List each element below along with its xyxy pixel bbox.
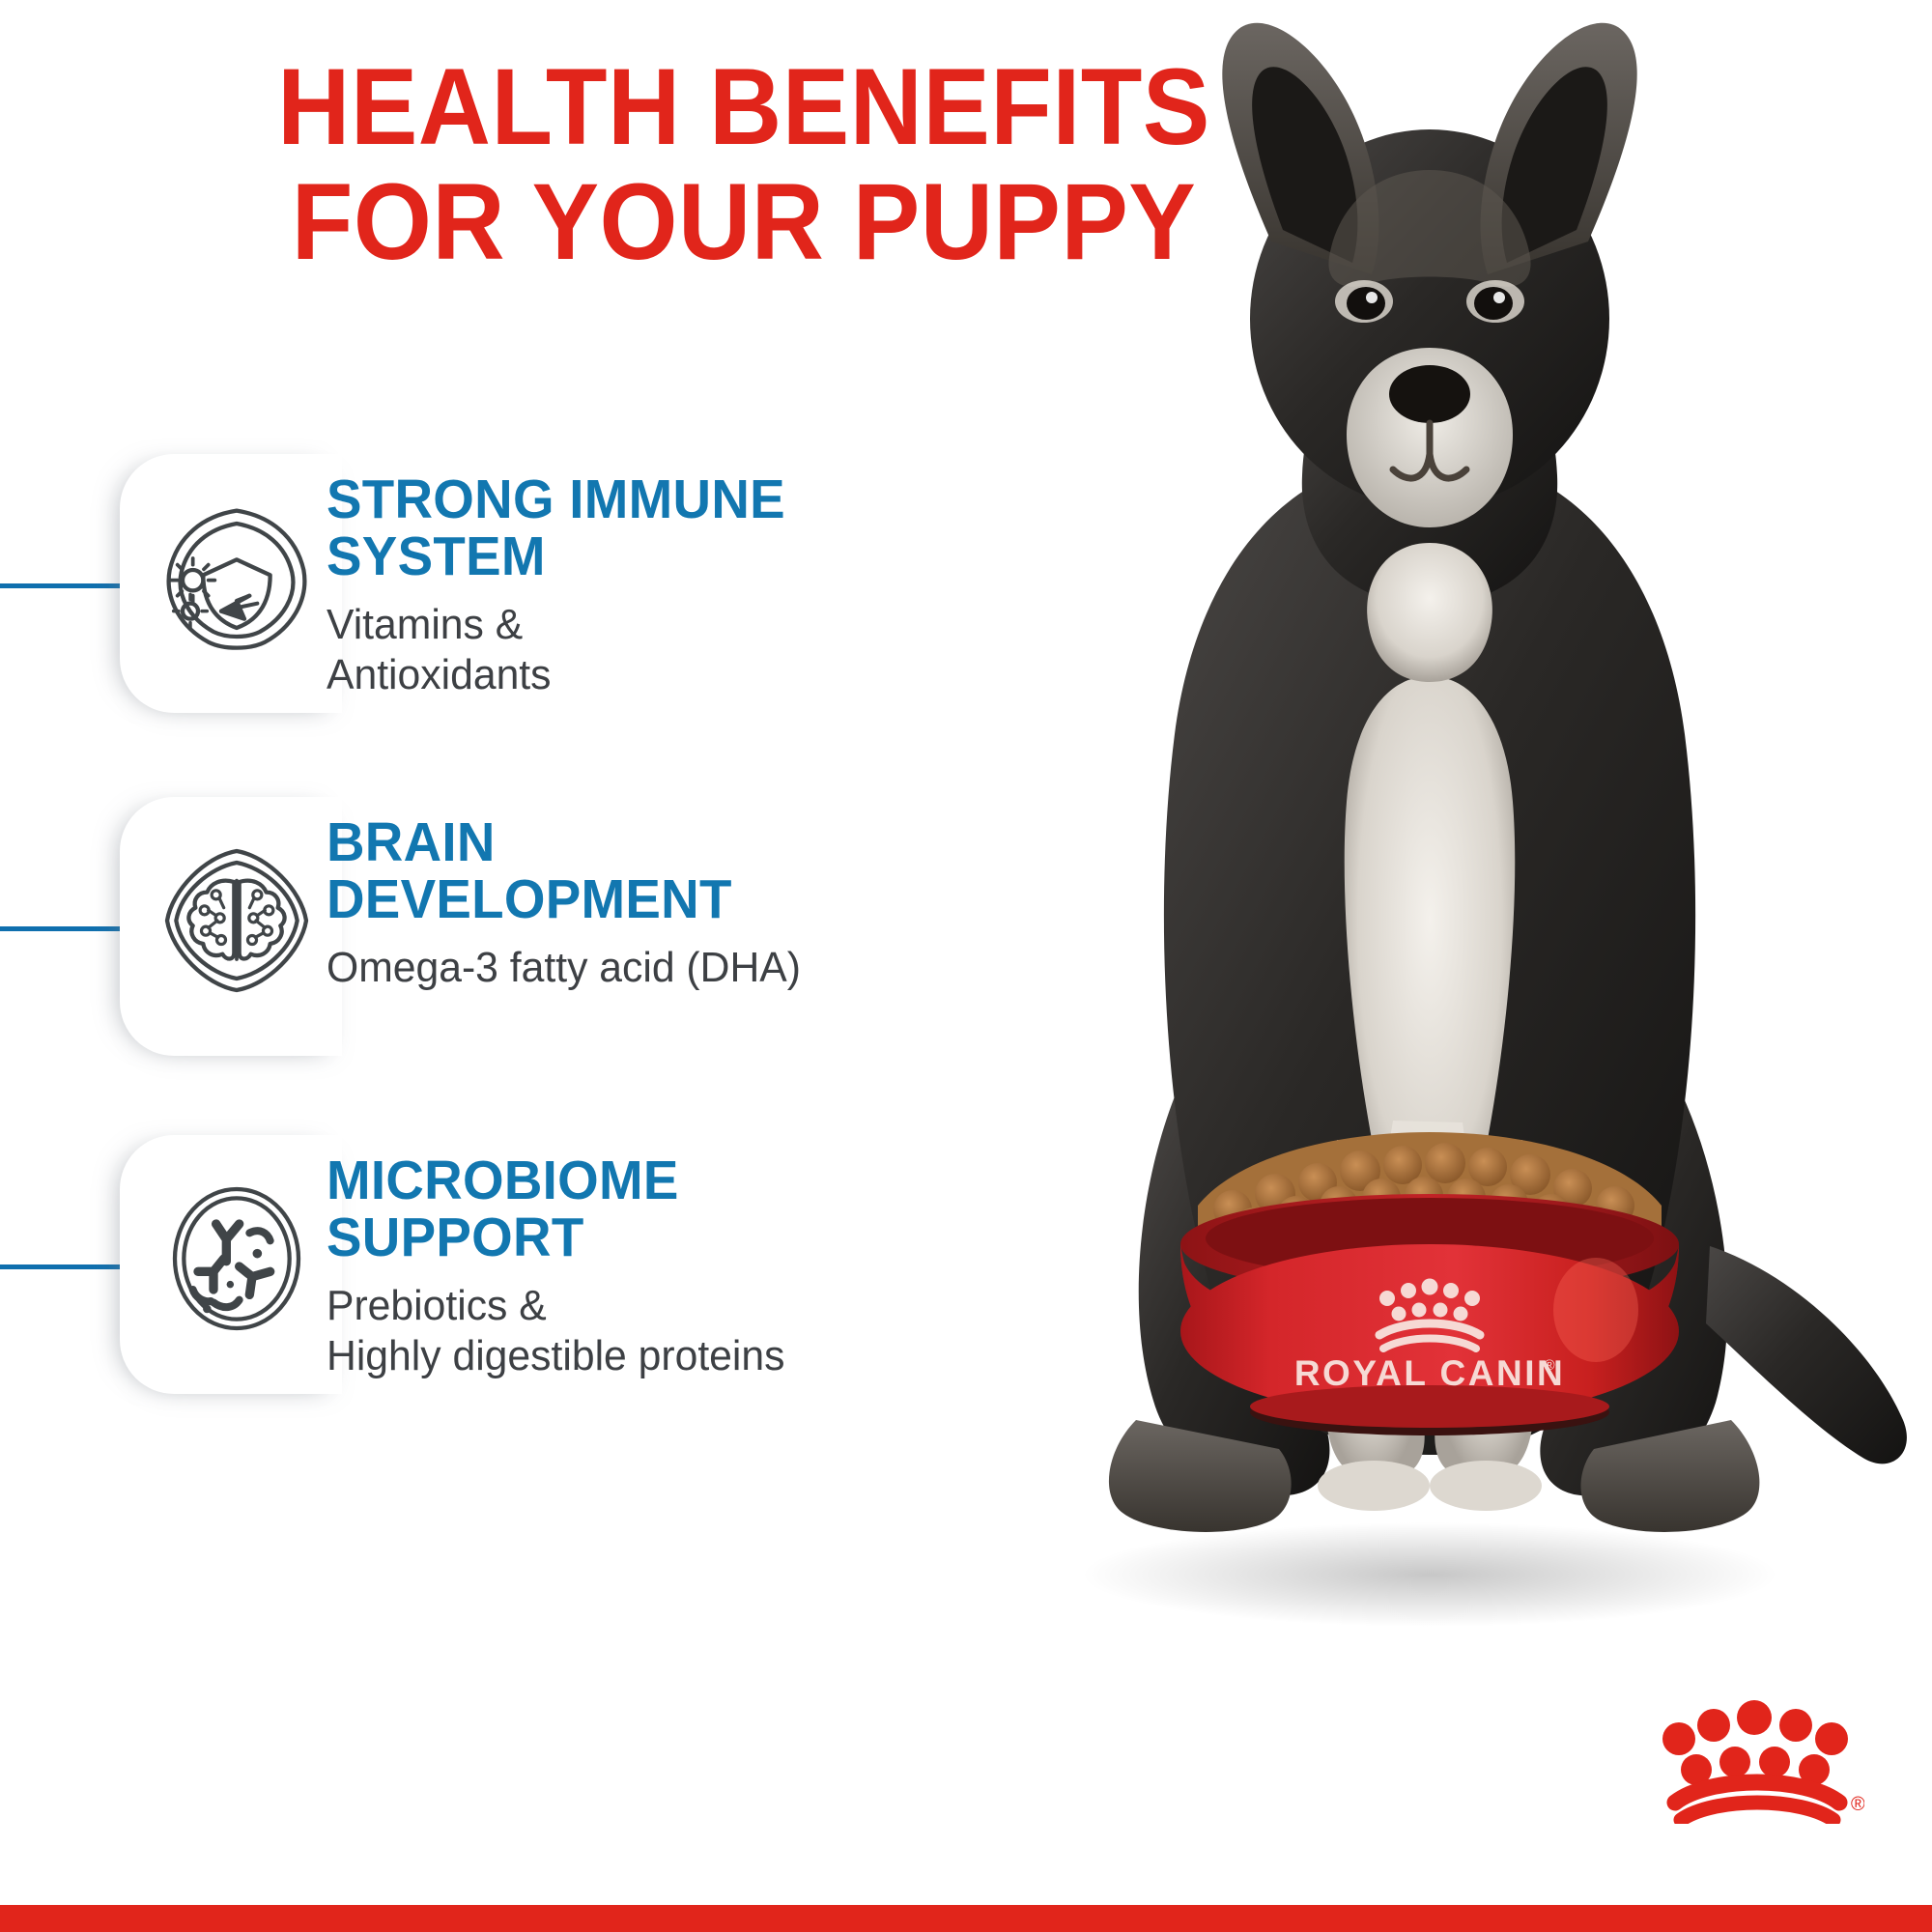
microbiome-bacteria-icon	[159, 1181, 314, 1336]
connector-line-brain	[0, 926, 124, 931]
puppy-photo: ROYAL CANIN ®	[947, 0, 1932, 1777]
health-benefits-poster: HEALTH BENEFITS FOR YOUR PUPPY	[0, 0, 1932, 1932]
registered-mark: ®	[1851, 1794, 1864, 1815]
royal-canin-crown-icon: ®	[1662, 1679, 1864, 1824]
benefit-heading-immune: STRONG IMMUNE SYSTEM	[327, 471, 901, 586]
immune-shield-icon	[159, 500, 314, 655]
bottom-red-bar	[0, 1905, 1932, 1932]
connector-line-immune	[0, 583, 124, 588]
benefit-heading-microbiome: MICROBIOME SUPPORT	[327, 1152, 901, 1267]
benefits-list: STRONG IMMUNE SYSTEM Vitamins & Antioxid…	[0, 0, 966, 1932]
benefit-text-immune: STRONG IMMUNE SYSTEM Vitamins & Antioxid…	[327, 471, 925, 701]
benefit-text-brain: BRAIN DEVELOPMENT Omega-3 fatty acid (DH…	[327, 814, 925, 993]
benefit-item-immune: STRONG IMMUNE SYSTEM Vitamins & Antioxid…	[0, 454, 976, 744]
benefit-item-microbiome: MICROBIOME SUPPORT Prebiotics & Highly d…	[0, 1135, 976, 1425]
svg-text:ROYAL CANIN: ROYAL CANIN	[1294, 1353, 1565, 1393]
brain-icon	[159, 843, 314, 998]
benefit-subtitle-brain: Omega-3 fatty acid (DHA)	[327, 943, 907, 994]
svg-text:®: ®	[1544, 1357, 1554, 1374]
benefit-subtitle-immune: Vitamins & Antioxidants	[327, 600, 907, 702]
benefit-subtitle-microbiome: Prebiotics & Highly digestible proteins	[327, 1281, 907, 1383]
connector-line-microbiome	[0, 1264, 124, 1269]
benefit-item-brain: BRAIN DEVELOPMENT Omega-3 fatty acid (DH…	[0, 797, 976, 1087]
benefit-heading-brain: BRAIN DEVELOPMENT	[327, 814, 901, 929]
benefit-text-microbiome: MICROBIOME SUPPORT Prebiotics & Highly d…	[327, 1152, 925, 1382]
